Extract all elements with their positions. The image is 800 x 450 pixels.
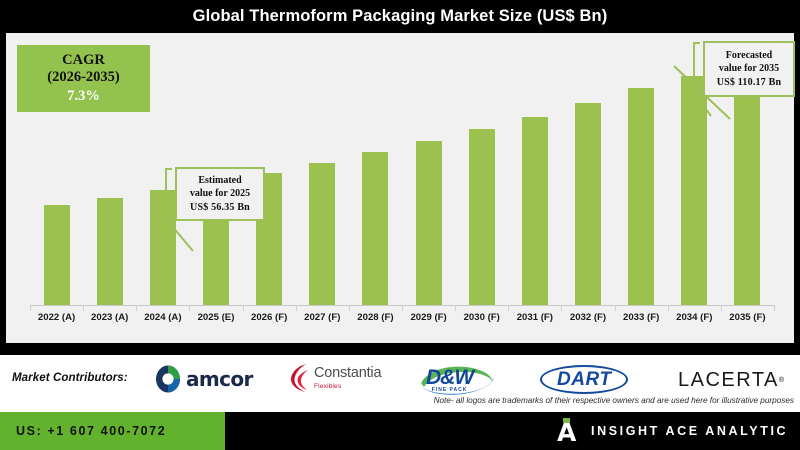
amcor-mark-icon [155,365,181,393]
axis-tick [561,305,562,311]
amcor-wordmark: amcor [186,367,253,391]
dw-wordmark: D&W [426,367,473,388]
axis-tick [508,305,509,311]
bar[interactable] [309,163,335,305]
chart-panel: CAGR (2026-2035) 7.3% 2022 (A)2023 (A)20… [6,33,794,343]
x-axis-label: 2033 (F) [615,312,668,323]
infographic-root: Global Thermoform Packaging Market Size … [0,0,800,450]
bar[interactable] [416,141,442,305]
x-axis-label: 2022 (A) [30,312,83,323]
x-axis-label: 2032 (F) [561,312,614,323]
dw-subtext: FINE PACK [426,387,473,393]
contributors-band: Market Contributors: amcor Constantia Fl… [0,355,800,412]
brand-name: INSIGHT ACE ANALYTIC [591,424,788,438]
contributors-label: Market Contributors: [12,372,128,384]
axis-tick [136,305,137,311]
x-axis-label: 2023 (A) [83,312,136,323]
bar[interactable] [362,152,388,305]
trademark-note: Note- all logos are trademarks of their … [434,396,794,405]
axis-tick [83,305,84,311]
bar-slot [561,33,614,305]
x-axis-label: 2025 (E) [189,312,242,323]
logo-constantia: Constantia Flexibles [288,363,381,393]
dart-wordmark: DART [540,365,628,394]
page-title: Global Thermoform Packaging Market Size … [193,7,608,26]
constantia-subtext: Flexibles [314,383,381,390]
callout-forecasted-value: US$ 110.17 Bn [717,76,782,89]
x-axis-label: 2034 (F) [668,312,721,323]
axis-tick [774,305,775,311]
plot-area: 2022 (A)2023 (A)2024 (A)2025 (E)2026 (F)… [6,33,794,343]
axis-ticks [30,305,774,311]
callout-forecasted-line2: value for 2035 [719,62,779,75]
callout-estimated-value: US$ 56.35 Bn [190,201,250,214]
logo-lacerta: LACERTA ® [678,369,784,392]
axis-tick [721,305,722,311]
callout-estimated-2025: Estimated value for 2025 US$ 56.35 Bn [175,167,265,221]
footer-bar: US: +1 607 400-7072 A INSIGHT ACE ANALYT… [0,412,800,450]
x-axis-label: 2026 (F) [243,312,296,323]
x-axis-label: 2031 (F) [508,312,561,323]
bar-slot [83,33,136,305]
x-axis-label: 2024 (A) [136,312,189,323]
bar-slot [296,33,349,305]
axis-tick [615,305,616,311]
bar-slot [508,33,561,305]
lacerta-wordmark: LACERTA [678,369,779,392]
callout-estimated-line2: value for 2025 [190,187,250,200]
logo-amcor: amcor [155,365,253,393]
axis-tick [402,305,403,311]
dw-wordmark-wrap: D&W FINE PACK [418,363,481,393]
brand-letter: A [557,422,579,444]
bar-slot [349,33,402,305]
header-bar: Global Thermoform Packaging Market Size … [0,0,800,33]
insight-ace-logo-icon: A [557,418,579,444]
bar[interactable] [522,117,548,305]
axis-tick [30,305,31,311]
bar-slot [402,33,455,305]
axis-tick [296,305,297,311]
callout-estimated-line1: Estimated [198,174,241,187]
axis-tick [668,305,669,311]
constantia-mark-icon [288,363,310,393]
footer-brand: A INSIGHT ACE ANALYTIC [557,412,788,450]
bar-slot [615,33,668,305]
axis-tick [243,305,244,311]
bar[interactable] [681,76,707,305]
bar-series [30,33,774,305]
footer-contact-block: US: +1 607 400-7072 [0,412,225,450]
bar-slot [455,33,508,305]
x-axis-label: 2027 (F) [296,312,349,323]
axis-tick [349,305,350,311]
constantia-wordmark: Constantia [314,366,381,381]
constantia-wordmark-wrap: Constantia Flexibles [314,366,381,389]
bar[interactable] [44,205,70,305]
x-axis-label: 2030 (F) [455,312,508,323]
bar-slot [30,33,83,305]
bar[interactable] [734,64,760,305]
bar[interactable] [150,190,176,305]
axis-tick [455,305,456,311]
logo-dw-fine-pack: D&W FINE PACK [418,363,481,393]
bar[interactable] [469,129,495,305]
x-axis-label: 2035 (F) [721,312,774,323]
axis-tick [189,305,190,311]
logo-dart: DART [540,365,628,394]
bar[interactable] [97,198,123,305]
callout-forecasted-2035: Forecasted value for 2035 US$ 110.17 Bn [703,41,795,97]
footer-phone[interactable]: US: +1 607 400-7072 [16,424,166,438]
bar[interactable] [575,103,601,305]
x-axis-label: 2029 (F) [402,312,455,323]
lacerta-registered-icon: ® [779,377,784,384]
x-axis-label: 2028 (F) [349,312,402,323]
callout-forecasted-line1: Forecasted [726,49,772,62]
brand-dot-icon [563,418,570,423]
x-axis-labels: 2022 (A)2023 (A)2024 (A)2025 (E)2026 (F)… [30,312,774,332]
bar[interactable] [628,88,654,305]
